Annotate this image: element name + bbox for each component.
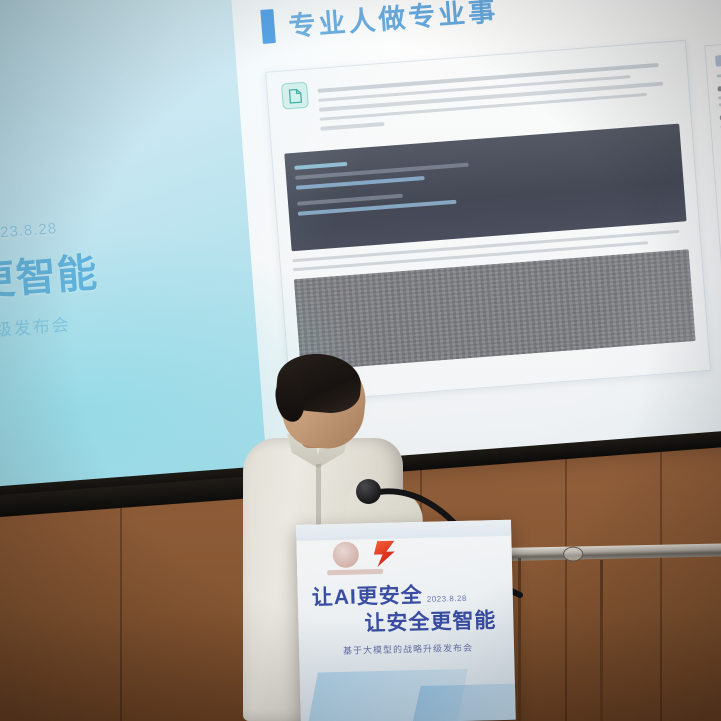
card-paragraph-block (317, 54, 676, 136)
document-icon (281, 82, 309, 110)
slide-title: 专业人做专业事 (260, 0, 499, 46)
side-panel-icon (715, 55, 721, 67)
podium: 让AI更安全2023.8.28 让安全更智能 基于大模型的战略升级发布会 (296, 520, 516, 721)
left-title-panel: 全2023.8.28 全更智能 战略升级发布会 (0, 0, 267, 491)
podium-accent-shape-2 (410, 683, 515, 721)
slide-title-text: 专业人做专业事 (287, 0, 499, 44)
microphone-head-icon (356, 479, 381, 504)
podium-subtitle: 基于大模型的战略升级发布会 (313, 640, 503, 658)
photo-scene: 全2023.8.28 全更智能 战略升级发布会 专业人做专业事 (0, 0, 721, 721)
podium-logos (332, 541, 395, 569)
podium-title: 让AI更安全2023.8.28 让安全更智能 基于大模型的战略升级发布会 (312, 582, 504, 658)
podium-date: 2023.8.28 (427, 594, 467, 604)
code-block (284, 123, 686, 251)
wall-panel-seam (600, 560, 603, 721)
podium-logo-caption (327, 569, 383, 575)
title-accent-bar (260, 9, 276, 44)
left-panel-subtitle: 战略升级发布会 (0, 295, 268, 345)
partner-logo-red-icon (372, 541, 395, 568)
content-card (265, 40, 711, 403)
podium-line2: 让安全更智能 (312, 609, 503, 638)
partner-logo-gray-icon (332, 541, 359, 568)
screenshot-image-block (294, 250, 696, 372)
left-panel-date: 2023.8.28 (0, 220, 58, 243)
podium-line1-text: 让AI更安全 (312, 584, 424, 610)
